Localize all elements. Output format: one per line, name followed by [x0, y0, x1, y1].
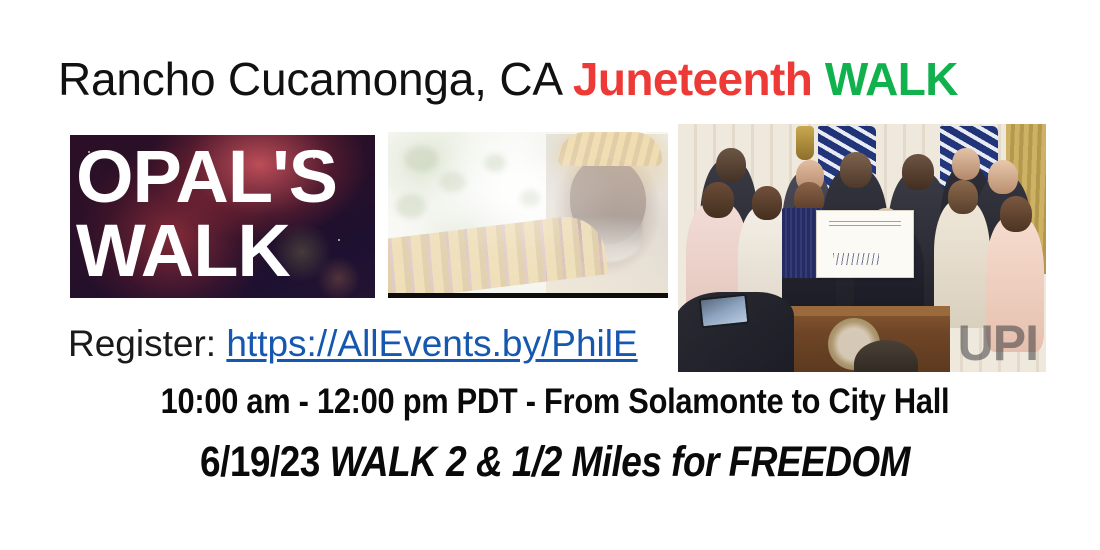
signed-bill-document [816, 210, 914, 278]
smartphone-icon [699, 294, 750, 329]
attendee-head [948, 180, 978, 214]
register-link[interactable]: https://AllEvents.by/PhilE [226, 323, 637, 364]
attendee-head [752, 186, 782, 220]
attendee-head [902, 154, 934, 190]
photo-bottom-bar [388, 293, 668, 298]
upi-watermark: UPI [958, 318, 1038, 368]
juneteenth-walk-flyer: Rancho Cucamonga, CA Juneteenth WALK OPA… [0, 0, 1100, 550]
register-line: Register: https://AllEvents.by/PhilE [68, 320, 638, 368]
attendee-head [952, 148, 980, 180]
time-and-route: 10:00 am - 12:00 pm PDT - From Solamonte… [111, 381, 1000, 423]
wall-sconce [796, 126, 814, 160]
attendee-head [716, 148, 746, 182]
event-date: 6/19/23 [200, 438, 330, 486]
opals-logo-line-2: WALK [76, 211, 375, 291]
elder-photo [388, 132, 668, 298]
opals-walk-logo-text: OPAL'S WALK [70, 135, 375, 298]
walk-distance-text: WALK 2 & 1/2 Miles for FREEDOM [330, 438, 910, 486]
attendee-head [702, 182, 734, 218]
register-label: Register: [68, 323, 226, 364]
opals-logo-line-1: OPAL'S [76, 137, 375, 217]
opals-walk-logo: OPAL'S WALK [70, 135, 375, 298]
document-text-lines [829, 221, 901, 229]
attendee-head [988, 160, 1018, 194]
attendee-head [1000, 196, 1032, 232]
attendee-head [840, 152, 872, 188]
photo-wash-overlay [388, 132, 668, 298]
date-and-distance: 6/19/23 WALK 2 & 1/2 Miles for FREEDOM [121, 436, 990, 488]
document-signature [833, 253, 879, 265]
signing-ceremony-photo: UPI [678, 124, 1046, 372]
